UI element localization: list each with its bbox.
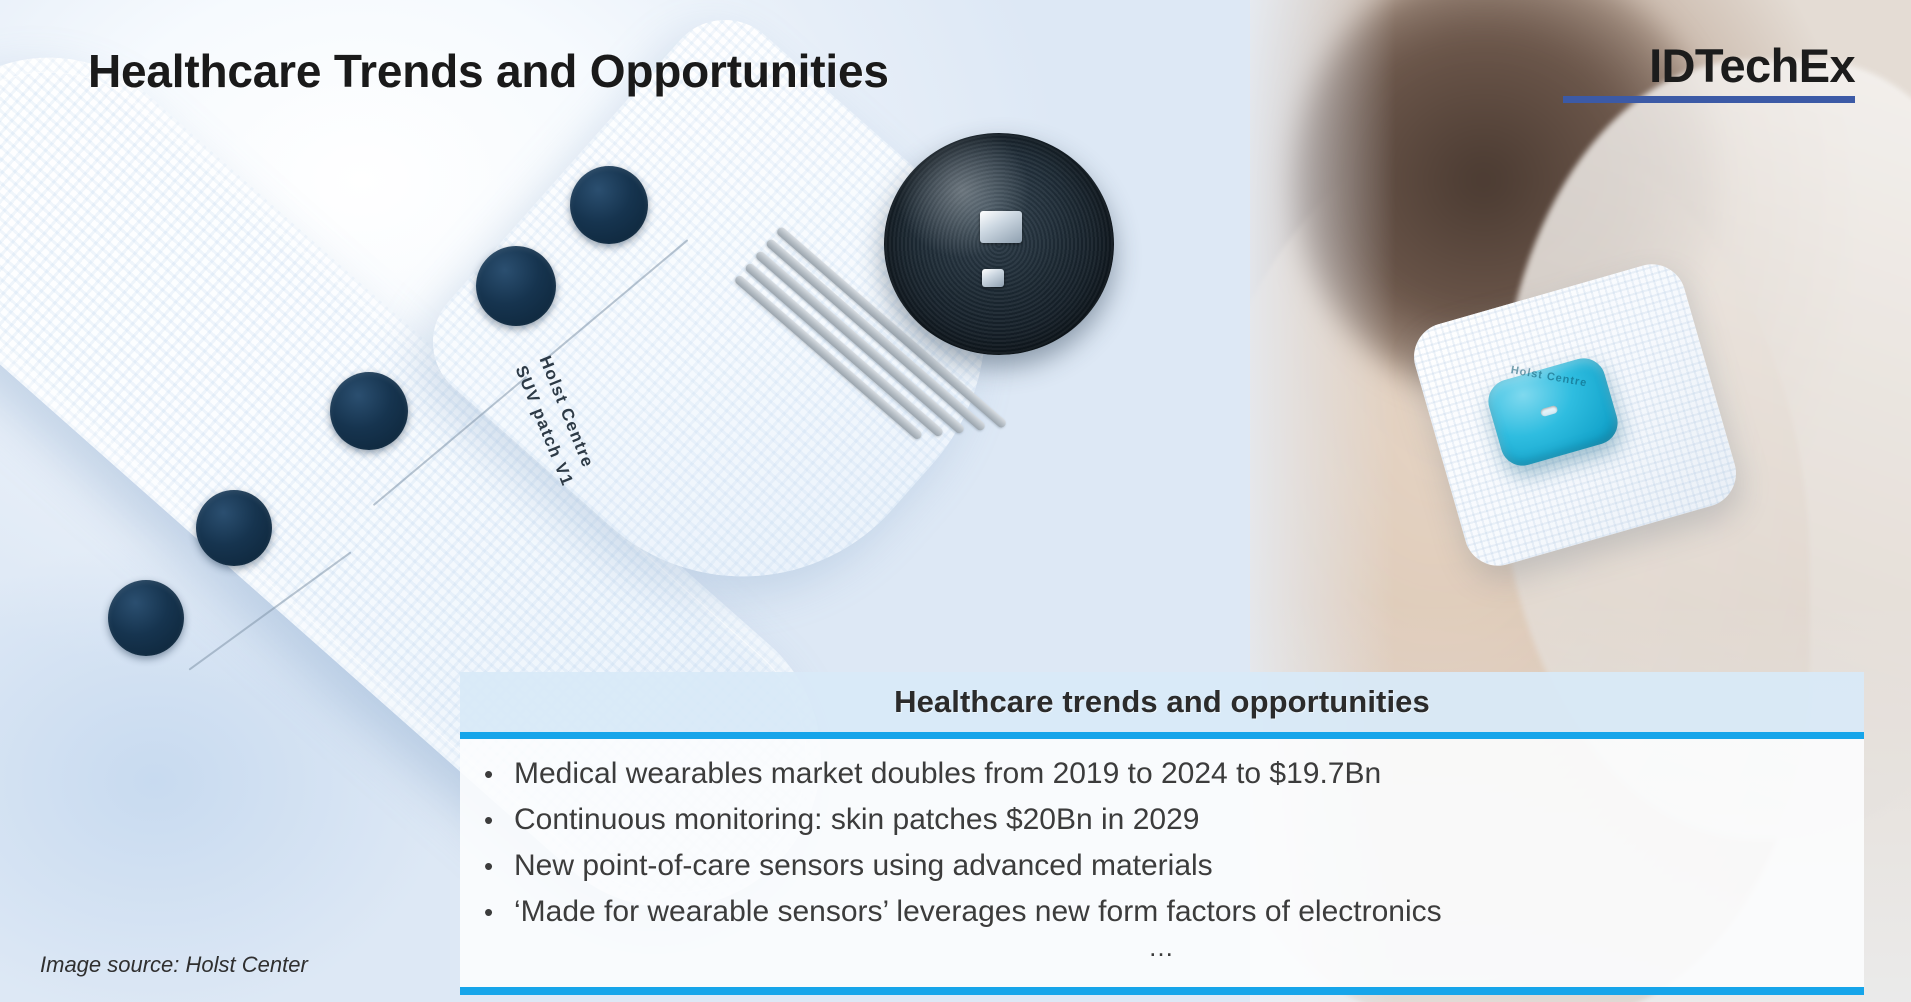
list-item-text: Medical wearables market doubles from 20… — [514, 752, 1864, 796]
sensor-disc — [884, 133, 1114, 355]
bullet-list: • Medical wearables market doubles from … — [460, 751, 1864, 935]
image-source-caption: Image source: Holst Center — [40, 952, 308, 978]
list-item-text: New point-of-care sensors using advanced… — [514, 844, 1864, 888]
list-item: • New point-of-care sensors using advanc… — [460, 843, 1864, 889]
electrode-dot — [330, 372, 408, 450]
list-item: • Continuous monitoring: skin patches $2… — [460, 797, 1864, 843]
page-title: Healthcare Trends and Opportunities — [88, 44, 889, 98]
continuation-ellipsis: … — [460, 937, 1864, 957]
list-item-text: Continuous monitoring: skin patches $20B… — [514, 798, 1864, 842]
electrode-dot — [476, 246, 556, 326]
bullet-marker-icon: • — [484, 890, 514, 934]
chip-large — [980, 211, 1022, 243]
accent-rule-top — [460, 732, 1864, 739]
chip-small — [982, 269, 1004, 287]
list-item-text: ‘Made for wearable sensors’ leverages ne… — [514, 890, 1864, 934]
idtechex-logo[interactable]: IDTechEx — [1563, 42, 1855, 103]
bullet-marker-icon: • — [484, 752, 514, 796]
list-item: • ‘Made for wearable sensors’ leverages … — [460, 889, 1864, 935]
logo-underline — [1563, 96, 1855, 103]
content-panel-body: • Medical wearables market doubles from … — [460, 739, 1864, 987]
slide-canvas: Holst Centre SUV patch V1 Holst Centre H… — [0, 0, 1911, 1002]
logo-wordmark: IDTechEx — [1563, 42, 1855, 89]
content-panel-header: Healthcare trends and opportunities — [460, 672, 1864, 732]
accent-rule-bottom — [460, 987, 1864, 995]
content-panel-title: Healthcare trends and opportunities — [894, 684, 1430, 720]
electrode-dot — [108, 580, 184, 656]
bullet-marker-icon: • — [484, 798, 514, 842]
content-panel: Healthcare trends and opportunities • Me… — [460, 672, 1864, 995]
electrode-dot — [570, 166, 648, 244]
electrode-dot — [196, 490, 272, 566]
list-item: • Medical wearables market doubles from … — [460, 751, 1864, 797]
bullet-marker-icon: • — [484, 844, 514, 888]
